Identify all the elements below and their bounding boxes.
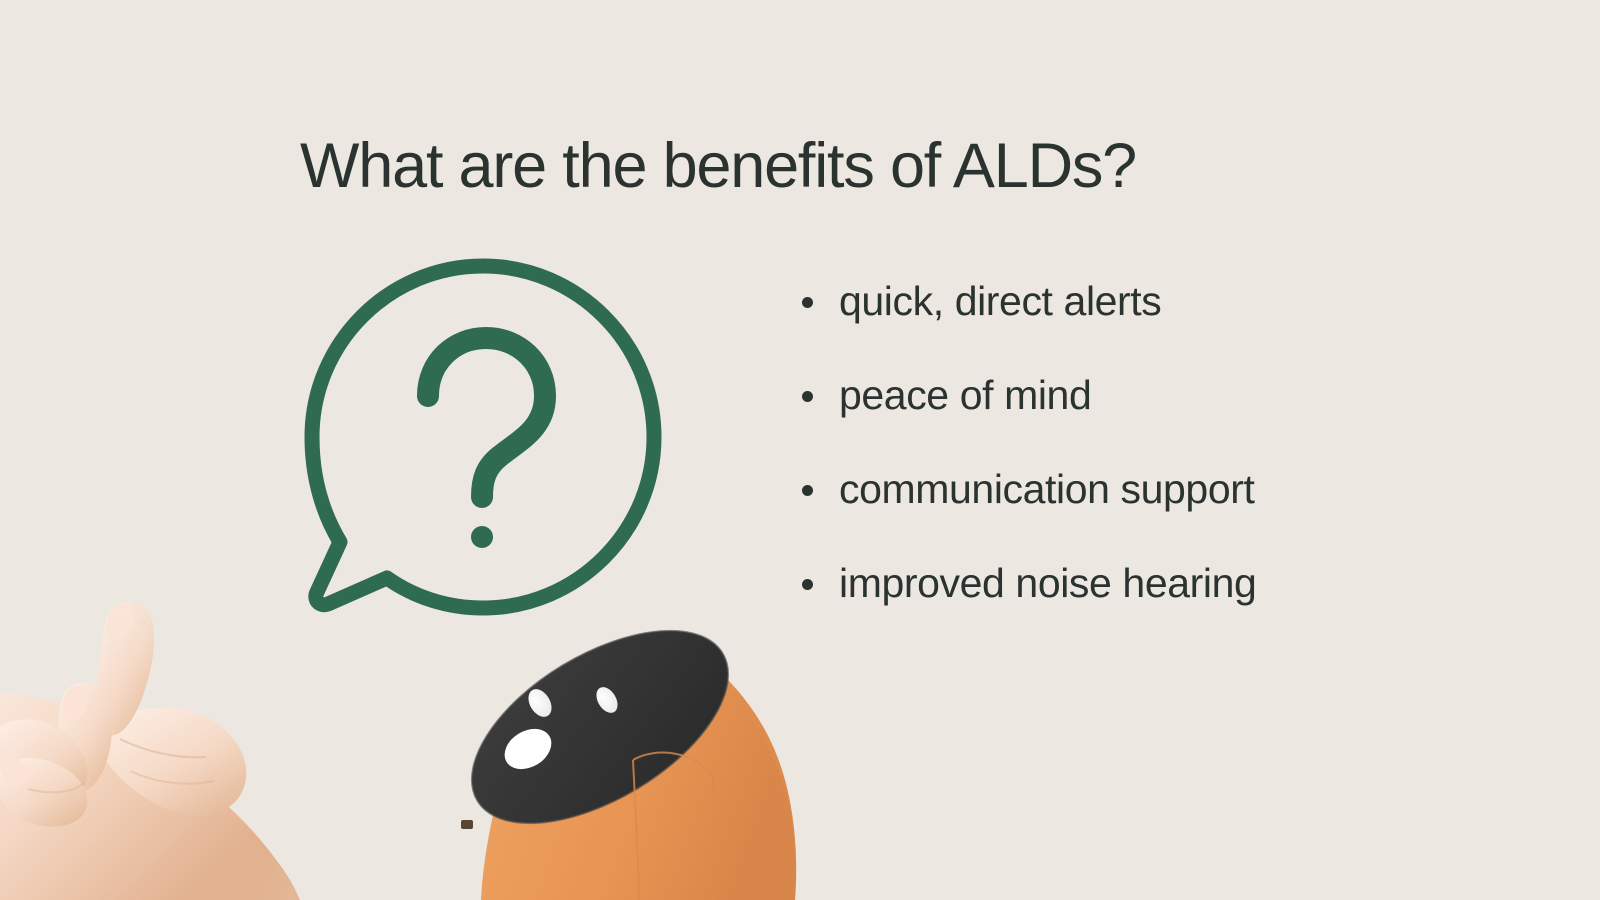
list-item: quick, direct alerts bbox=[795, 272, 1495, 366]
benefits-list: quick, direct alerts peace of mind commu… bbox=[795, 272, 1495, 648]
benefit-label: communication support bbox=[839, 460, 1495, 518]
assistive-listening-device-photo bbox=[395, 600, 815, 900]
bullet-dot-icon bbox=[802, 579, 813, 590]
list-item: peace of mind bbox=[795, 366, 1495, 460]
list-item: improved noise hearing bbox=[795, 554, 1495, 648]
benefit-label: improved noise hearing bbox=[839, 554, 1495, 612]
benefit-label: peace of mind bbox=[839, 366, 1495, 424]
benefit-label: quick, direct alerts bbox=[839, 272, 1495, 330]
sign-language-hands-photo bbox=[0, 575, 380, 900]
bullet-dot-icon bbox=[802, 297, 813, 308]
page-title: What are the benefits of ALDs? bbox=[300, 128, 1400, 204]
bullet-dot-icon bbox=[802, 391, 813, 402]
bullet-dot-icon bbox=[802, 485, 813, 496]
list-item: communication support bbox=[795, 460, 1495, 554]
slide-canvas: What are the benefits of ALDs? bbox=[0, 0, 1600, 900]
speech-bubble-question-icon bbox=[296, 250, 676, 625]
